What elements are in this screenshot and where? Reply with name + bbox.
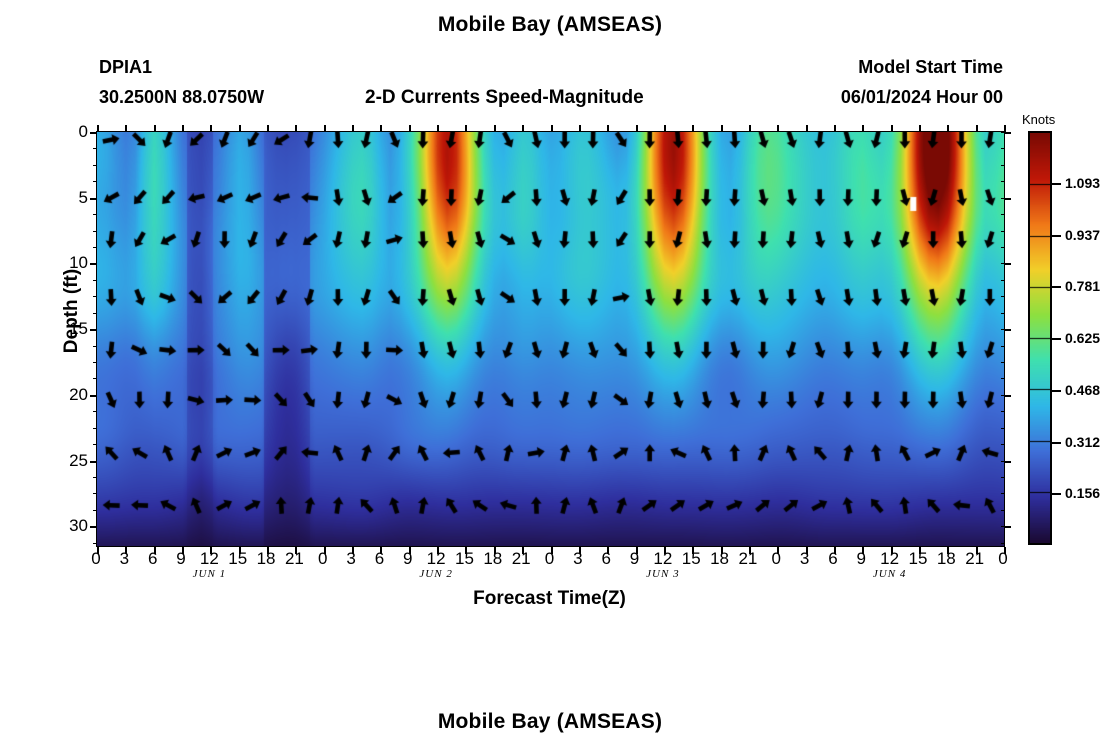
y-axis-minor-tick	[93, 428, 97, 429]
y-axis-minor-tick	[93, 263, 97, 264]
y-axis-minor-tick	[1001, 493, 1005, 494]
y-axis-tick-right	[1005, 263, 1011, 265]
x-axis-tick-top	[664, 125, 666, 132]
y-axis-minor-tick	[93, 444, 97, 445]
y-axis-minor-tick	[1001, 477, 1005, 478]
y-axis-minor-tick	[1001, 231, 1005, 232]
model-start-time-value: 06/01/2024 Hour 00	[703, 87, 1003, 108]
colorbar-tick	[1052, 338, 1061, 340]
colorbar-tick	[1052, 286, 1061, 288]
x-axis-day-label: JUN 2	[401, 568, 471, 580]
colorbar-tick-label: 0.78125	[1065, 278, 1100, 294]
x-axis-tick-top	[976, 125, 978, 132]
y-axis-minor-tick	[1001, 461, 1005, 462]
x-axis-tick-top	[777, 125, 779, 132]
y-axis-minor-tick	[1001, 198, 1005, 199]
y-axis-minor-tick	[1001, 214, 1005, 215]
y-axis-minor-tick	[93, 411, 97, 412]
y-axis-minor-tick	[93, 247, 97, 248]
y-axis-minor-tick	[1001, 510, 1005, 511]
x-axis-tick-top	[551, 125, 553, 132]
station-id-label: DPIA1	[99, 57, 152, 78]
y-axis-minor-tick	[1001, 526, 1005, 527]
y-axis-minor-tick	[1001, 247, 1005, 248]
x-axis-tick-top	[891, 125, 893, 132]
x-axis-tick-label: 0	[983, 549, 1023, 569]
y-axis-tick-right	[1005, 132, 1011, 134]
colorbar-tick	[1052, 493, 1061, 495]
y-axis-minor-tick	[93, 493, 97, 494]
colorbar-gradient	[1030, 133, 1050, 543]
y-axis-minor-tick	[1001, 280, 1005, 281]
x-axis-day-label: JUN 1	[174, 568, 244, 580]
y-axis-minor-tick	[1001, 296, 1005, 297]
x-axis-tick-top	[806, 125, 808, 132]
model-start-time-label: Model Start Time	[703, 57, 1003, 78]
colorbar-tick-label: 0.31250	[1065, 434, 1100, 450]
x-axis-tick-top	[494, 125, 496, 132]
y-axis-minor-tick	[93, 510, 97, 511]
chart-subtitle: 2-D Currents Speed-Magnitude	[365, 87, 644, 109]
y-axis-tick-right	[1005, 461, 1011, 463]
x-axis-day-label: JUN 4	[855, 568, 925, 580]
y-axis-minor-tick	[1001, 362, 1005, 363]
y-axis-minor-tick	[93, 461, 97, 462]
colorbar-tick-label: 0.62500	[1065, 330, 1100, 346]
colorbar-tick	[1052, 442, 1061, 444]
y-axis-minor-tick	[93, 296, 97, 297]
y-axis-minor-tick	[1001, 346, 1005, 347]
x-axis-day-label: JUN 3	[628, 568, 698, 580]
y-axis-minor-tick	[93, 395, 97, 396]
y-axis-minor-tick	[1001, 148, 1005, 149]
y-axis-minor-tick	[1001, 132, 1005, 133]
y-axis-minor-tick	[1001, 543, 1005, 544]
x-axis-tick-top	[636, 125, 638, 132]
colorbar-tick-labels: 1.093750.937500.781250.625000.468750.312…	[1052, 131, 1100, 545]
y-axis-tick-right	[1005, 329, 1011, 331]
y-axis-minor-tick	[93, 543, 97, 544]
x-axis-tick-top	[579, 125, 581, 132]
x-axis-tick-top	[919, 125, 921, 132]
y-axis-tick-label: 30	[28, 516, 88, 536]
page-title: Mobile Bay (AMSEAS)	[0, 13, 1100, 37]
x-axis-tick-top	[352, 125, 354, 132]
y-axis-minor-tick	[93, 362, 97, 363]
x-axis-tick-top	[210, 125, 212, 132]
x-axis-tick-top	[437, 125, 439, 132]
y-axis-tick-right	[1005, 526, 1011, 528]
x-axis-tick-top	[862, 125, 864, 132]
y-axis-minor-tick	[93, 346, 97, 347]
x-axis-tick-top	[97, 125, 99, 132]
x-axis-title: Forecast Time(Z)	[96, 588, 1003, 610]
colorbar-tick-label: 1.09375	[1065, 175, 1100, 191]
x-axis-tick-top	[607, 125, 609, 132]
y-axis-minor-tick	[93, 214, 97, 215]
y-axis-minor-tick	[1001, 378, 1005, 379]
y-axis-minor-tick	[93, 148, 97, 149]
colorbar-tick-label: 0.93750	[1065, 227, 1100, 243]
x-axis-tick-top	[465, 125, 467, 132]
colorbar-tick	[1052, 183, 1061, 185]
chart-canvas-area: Mobile Bay (AMSEAS) DPIA1 30.2500N 88.07…	[0, 0, 1100, 750]
current-direction-arrows	[97, 132, 1004, 546]
y-axis-minor-tick	[93, 132, 97, 133]
colorbar-tick-label: 0.46875	[1065, 382, 1100, 398]
x-axis-tick-top	[1004, 125, 1006, 132]
current-speed-heatmap-plot	[96, 131, 1005, 547]
y-axis-minor-tick	[93, 526, 97, 527]
y-axis-minor-tick	[1001, 263, 1005, 264]
y-axis-minor-tick	[1001, 411, 1005, 412]
y-axis-minor-tick	[93, 329, 97, 330]
y-axis-tick-right	[1005, 198, 1011, 200]
x-axis-tick-top	[834, 125, 836, 132]
x-axis-tick-top	[324, 125, 326, 132]
y-axis-tick-label: 5	[28, 188, 88, 208]
y-axis-minor-tick	[93, 181, 97, 182]
x-axis-tick-top	[182, 125, 184, 132]
colorbar-tick	[1052, 390, 1061, 392]
y-axis-minor-tick	[93, 231, 97, 232]
x-axis-tick-top	[125, 125, 127, 132]
x-axis-tick-top	[721, 125, 723, 132]
colorbar-unit-label: Knots	[1022, 112, 1055, 127]
x-axis-tick-top	[380, 125, 382, 132]
y-axis-minor-tick	[93, 378, 97, 379]
x-axis-tick-top	[295, 125, 297, 132]
y-axis-minor-tick	[1001, 444, 1005, 445]
y-axis-tick-label: 0	[28, 122, 88, 142]
x-axis-tick-top	[692, 125, 694, 132]
y-axis-minor-tick	[1001, 428, 1005, 429]
y-axis-minor-tick	[1001, 329, 1005, 330]
footer-title: Mobile Bay (AMSEAS)	[0, 710, 1100, 734]
x-axis-tick-top	[409, 125, 411, 132]
y-axis-tick-right	[1005, 395, 1011, 397]
y-axis-minor-tick	[93, 165, 97, 166]
colorbar-tick-label: 0.15625	[1065, 485, 1100, 501]
y-axis-minor-tick	[1001, 313, 1005, 314]
y-axis-minor-tick	[93, 313, 97, 314]
x-axis-tick-top	[154, 125, 156, 132]
y-axis-minor-tick	[1001, 181, 1005, 182]
y-axis-minor-tick	[93, 477, 97, 478]
colorbar	[1028, 131, 1052, 545]
y-axis-minor-tick	[93, 280, 97, 281]
x-axis-tick-top	[522, 125, 524, 132]
y-axis-title: Depth (ft)	[61, 231, 83, 391]
x-axis-tick-top	[267, 125, 269, 132]
x-axis-tick-top	[947, 125, 949, 132]
x-axis-day-labels: JUN 1JUN 2JUN 3JUN 4	[96, 568, 1003, 586]
station-coordinates-label: 30.2500N 88.0750W	[99, 87, 264, 108]
y-axis-minor-tick	[1001, 395, 1005, 396]
x-axis-tick-top	[239, 125, 241, 132]
y-axis-tick-label: 25	[28, 451, 88, 471]
y-axis-minor-tick	[1001, 165, 1005, 166]
x-axis-tick-top	[749, 125, 751, 132]
colorbar-tick	[1052, 235, 1061, 237]
y-axis-minor-tick	[93, 198, 97, 199]
